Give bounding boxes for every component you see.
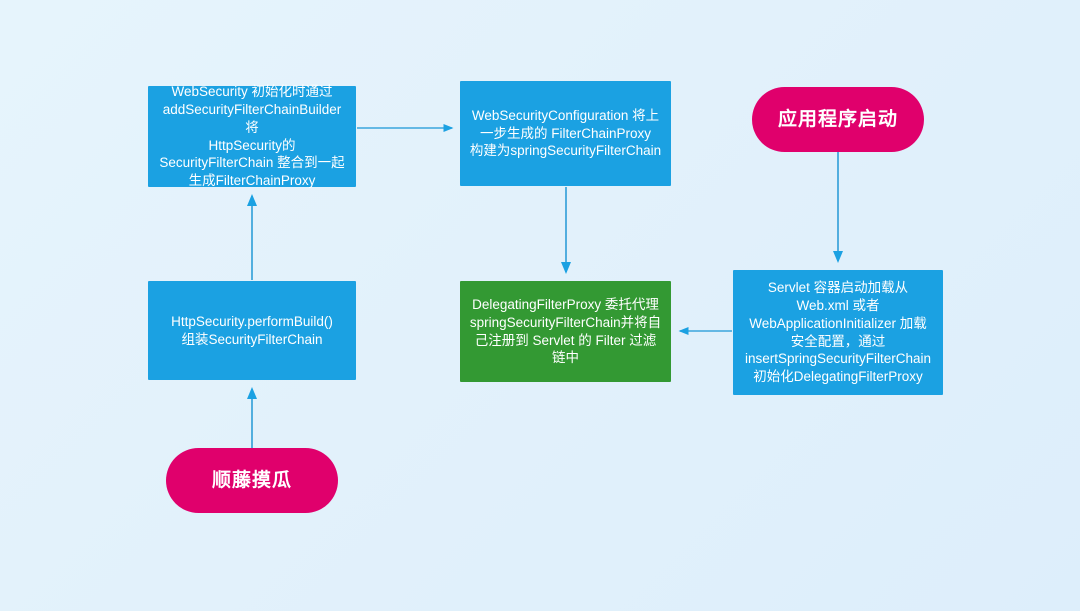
node-websecurity-init[interactable]: WebSecurity 初始化时通过 addSecurityFilterChai… bbox=[148, 86, 356, 187]
flowchart-canvas: WebSecurity 初始化时通过 addSecurityFilterChai… bbox=[0, 0, 1080, 611]
node-application-start-label: 应用程序启动 bbox=[760, 107, 916, 132]
node-websecurity-configuration-label: WebSecurityConfiguration 将上 一步生成的 Filter… bbox=[468, 107, 663, 160]
node-websecurity-init-label: WebSecurity 初始化时通过 addSecurityFilterChai… bbox=[156, 83, 348, 190]
node-websecurity-configuration[interactable]: WebSecurityConfiguration 将上 一步生成的 Filter… bbox=[460, 81, 671, 186]
node-http-security-perform-build[interactable]: HttpSecurity.performBuild() 组装SecurityFi… bbox=[148, 281, 356, 380]
node-delegating-filter-proxy[interactable]: DelegatingFilterProxy 委托代理 springSecurit… bbox=[460, 281, 671, 382]
node-http-security-perform-build-label: HttpSecurity.performBuild() 组装SecurityFi… bbox=[156, 313, 348, 349]
node-follow-the-vine-label: 顺藤摸瓜 bbox=[174, 468, 330, 493]
node-delegating-filter-proxy-label: DelegatingFilterProxy 委托代理 springSecurit… bbox=[468, 296, 663, 367]
node-servlet-container-startup[interactable]: Servlet 容器启动加载从 Web.xml 或者 WebApplicatio… bbox=[733, 270, 943, 395]
node-application-start[interactable]: 应用程序启动 bbox=[752, 87, 924, 152]
node-follow-the-vine[interactable]: 顺藤摸瓜 bbox=[166, 448, 338, 513]
node-servlet-container-startup-label: Servlet 容器启动加载从 Web.xml 或者 WebApplicatio… bbox=[741, 279, 935, 386]
